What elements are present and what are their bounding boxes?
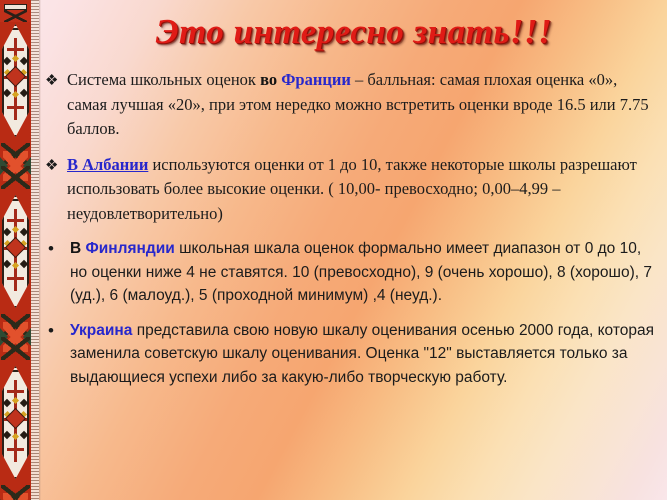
- country-keyword: Франции: [281, 70, 351, 89]
- bullet-text-ukraine: Украина представила свою новую шкалу оце…: [70, 319, 660, 390]
- embroidery-diamond-motif: [0, 18, 31, 143]
- dot-bullet-icon: •: [45, 319, 70, 342]
- diamond-bullet-icon: ❖: [45, 68, 67, 93]
- embroidery-zigzag: [0, 485, 31, 500]
- bullet-text-albania: В Албании используются оценки от 1 до 10…: [67, 153, 660, 227]
- emphasis-text: во: [260, 70, 281, 89]
- list-item: ❖ Система школьных оценок во Франции – б…: [45, 68, 660, 142]
- emphasis-text: В: [70, 240, 86, 257]
- bullet-text-france: Система школьных оценок во Франции – бал…: [67, 68, 660, 142]
- body-text: Система школьных оценок: [67, 70, 260, 89]
- embroidery-fringe-shadow: [39, 0, 41, 500]
- country-keyword: В Албании: [67, 155, 148, 174]
- list-item: • Украина представила свою новую шкалу о…: [45, 319, 660, 390]
- slide-title: Это интересно знать!!!: [41, 12, 667, 52]
- embroidery-diamond-motif: [0, 189, 31, 314]
- embroidery-border-ornament: [0, 0, 31, 500]
- diamond-bullet-icon: ❖: [45, 153, 67, 178]
- country-keyword: Финляндии: [86, 240, 175, 257]
- list-item: • В Финляндии школьная шкала оценок форм…: [45, 237, 660, 308]
- embroidery-diamond-motif: [0, 360, 31, 485]
- list-item: ❖ В Албании используются оценки от 1 до …: [45, 153, 660, 227]
- bullet-text-finland: В Финляндии школьная шкала оценок формал…: [70, 237, 660, 308]
- embroidery-zigzag: [0, 314, 31, 360]
- slide-canvas: Это интересно знать!!! ❖ Система школьны…: [0, 0, 667, 500]
- body-text: используются оценки от 1 до 10, также не…: [67, 155, 637, 223]
- embroidery-zigzag: [0, 143, 31, 189]
- bullet-list: ❖ Система школьных оценок во Франции – б…: [45, 68, 660, 389]
- country-keyword: Украина: [70, 322, 132, 339]
- embroidery-fringe: [31, 0, 39, 500]
- dot-bullet-icon: •: [45, 237, 70, 260]
- body-text: представила свою новую шкалу оценивания …: [70, 322, 654, 386]
